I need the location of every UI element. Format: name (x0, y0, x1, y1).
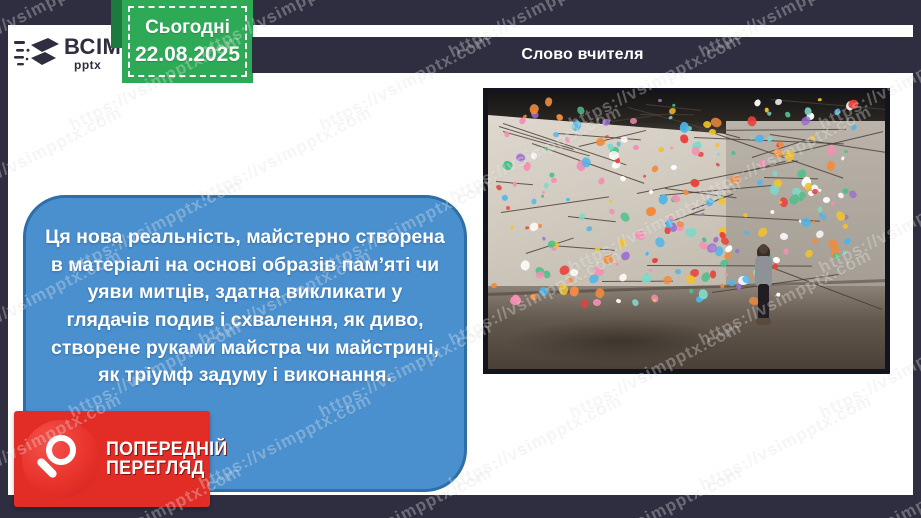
slide-canvas: ВСІМ pptx Сьогодні 22.08.2025 Слово вчит… (0, 0, 921, 518)
content-image-scene (488, 93, 885, 369)
image-visitor (752, 244, 774, 330)
page-title: Слово вчителя (521, 46, 643, 64)
preview-badge-text: ПОПЕРЕДНІЙ ПЕРЕГЛЯД (106, 440, 235, 479)
date-badge: Сьогодні 22.08.2025 (111, 0, 253, 83)
slide-frame-right (913, 0, 921, 518)
magnifier-icon (22, 420, 100, 498)
graduation-cap-icon (14, 33, 60, 73)
preview-badge: ПОПЕРЕДНІЙ ПЕРЕГЛЯД (14, 411, 210, 507)
preview-badge-line2: ПЕРЕГЛЯД (106, 459, 228, 478)
visitor-torso (755, 256, 772, 286)
content-paragraph: Ця нова реальність, майстерно створена в… (44, 224, 446, 390)
date-badge-value: 22.08.2025 (135, 43, 240, 67)
visitor-shoes (756, 318, 771, 325)
magnifier-ring (46, 435, 76, 465)
preview-badge-line1: ПОПЕРЕДНІЙ (106, 440, 228, 459)
content-image (483, 88, 890, 374)
visitor-legs (758, 284, 769, 320)
date-badge-body: Сьогодні 22.08.2025 (122, 0, 253, 83)
date-badge-label: Сьогодні (145, 17, 230, 39)
slide-frame-left (0, 0, 8, 518)
image-floor-shadow (504, 319, 734, 363)
section-header-bar: Слово вчителя (252, 37, 913, 73)
brand-logo[interactable]: ВСІМ pptx (14, 30, 124, 76)
